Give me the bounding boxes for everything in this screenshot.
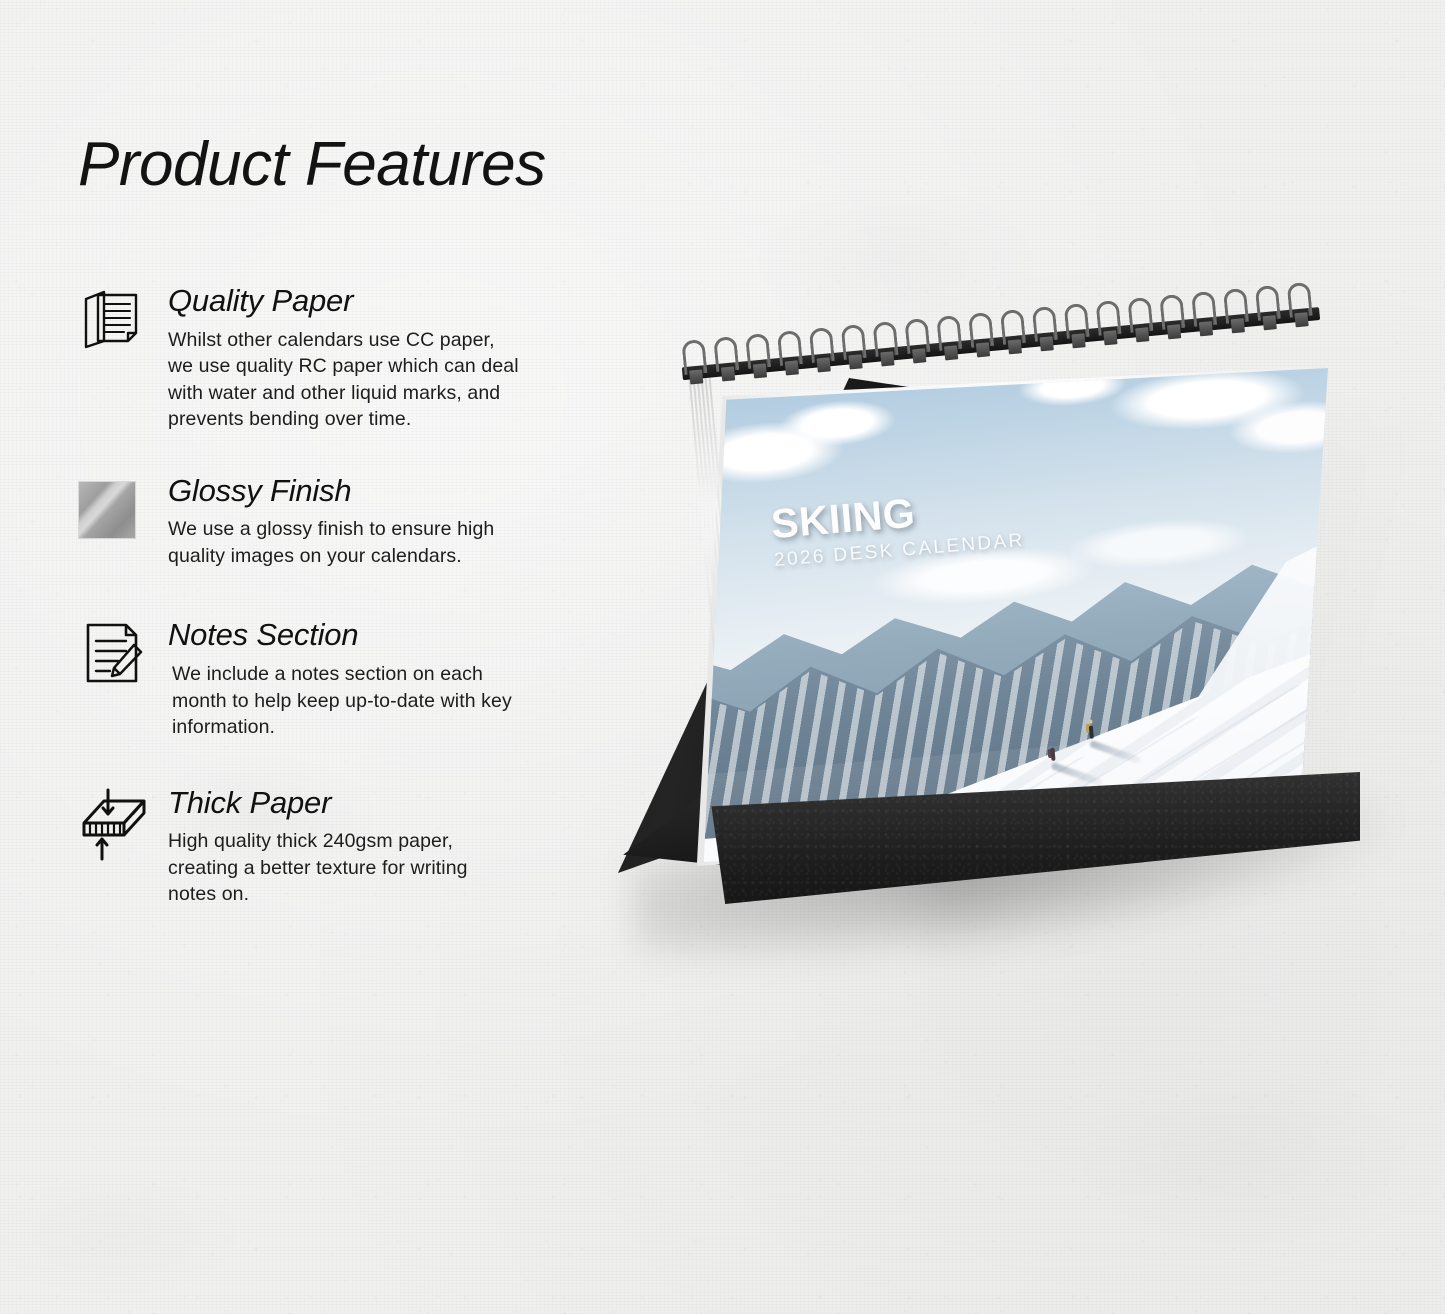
binding-clip (1040, 336, 1054, 351)
binding-clip (912, 348, 926, 363)
thick-slab-icon (78, 787, 156, 865)
binding-clip (817, 357, 831, 372)
binding-clip (1103, 330, 1117, 345)
binding-clip (785, 360, 799, 375)
page-title: Product Features (78, 132, 638, 197)
binding-clip (689, 369, 703, 384)
feature-description: High quality thick 240gsm paper, creatin… (168, 828, 620, 908)
feature-notes-section: Notes Section We include a notes section… (78, 617, 638, 740)
feature-title: Quality Paper (168, 283, 638, 319)
binding-clip (1071, 333, 1085, 348)
gloss-gradient-square (78, 481, 136, 539)
feature-description: We include a notes section on each month… (168, 661, 620, 741)
feature-body: Glossy Finish We use a glossy finish to … (78, 473, 638, 570)
binding-clip (1167, 324, 1181, 339)
feature-glossy-finish: Glossy Finish We use a glossy finish to … (78, 473, 638, 570)
product-features-page: Product Features (0, 0, 1445, 1314)
feature-title: Glossy Finish (168, 473, 638, 509)
feature-body: Quality Paper Whilst other calendars use… (78, 283, 638, 433)
feature-thick-paper: Thick Paper High quality thick 240gsm pa… (78, 785, 638, 908)
binding-clip (880, 351, 894, 366)
binding-clip (848, 354, 862, 369)
feature-description: We use a glossy finish to ensure high qu… (168, 516, 620, 569)
binding-clip (721, 366, 735, 381)
stacked-paper-icon (78, 283, 156, 361)
feature-quality-paper: Quality Paper Whilst other calendars use… (78, 283, 638, 433)
feature-title: Thick Paper (168, 785, 638, 821)
note-pencil-icon (78, 617, 156, 695)
binding-clip (1008, 339, 1022, 354)
binding-clip (944, 345, 958, 360)
binding-clip (1135, 327, 1149, 342)
feature-title: Notes Section (168, 617, 638, 653)
binding-clip (1294, 312, 1308, 327)
desk-calendar-mockup: SKIING 2026 DESK CALENDAR (600, 320, 1420, 1020)
feature-body: Thick Paper High quality thick 240gsm pa… (78, 785, 638, 908)
binding-clip (1263, 315, 1277, 330)
features-column: Product Features (78, 132, 638, 908)
glossy-swatch-icon (78, 481, 142, 545)
binding-clip (976, 342, 990, 357)
feature-body: Notes Section We include a notes section… (78, 617, 638, 740)
binding-clip (753, 363, 767, 378)
binding-clip (1231, 318, 1245, 333)
feature-description: Whilst other calendars use CC paper, we … (168, 327, 620, 433)
binding-clip (1199, 321, 1213, 336)
